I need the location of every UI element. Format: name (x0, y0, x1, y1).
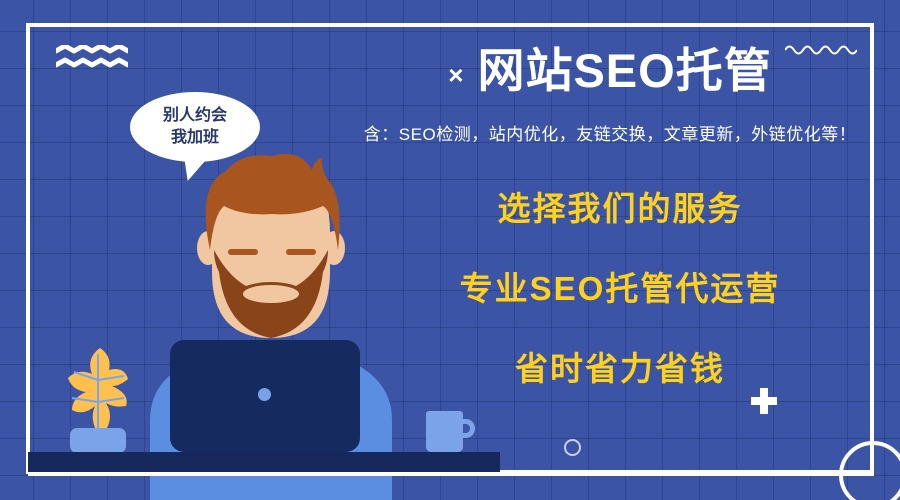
plant-leaves-icon (62, 346, 136, 438)
desk-surface (28, 452, 500, 474)
desk-edge-line (28, 472, 874, 476)
eye-left (228, 249, 258, 255)
eye-right (286, 249, 316, 255)
mouth-shape (243, 285, 299, 303)
laptop-logo-dot (258, 388, 271, 401)
plant-pot (70, 428, 126, 453)
laptop (170, 340, 360, 452)
seo-promo-poster: × 网站SEO托管 含：SEO检测，站内优化，友链交换，文章更新，外链优化等！ … (0, 0, 900, 500)
coffee-mug-handle (457, 419, 475, 438)
